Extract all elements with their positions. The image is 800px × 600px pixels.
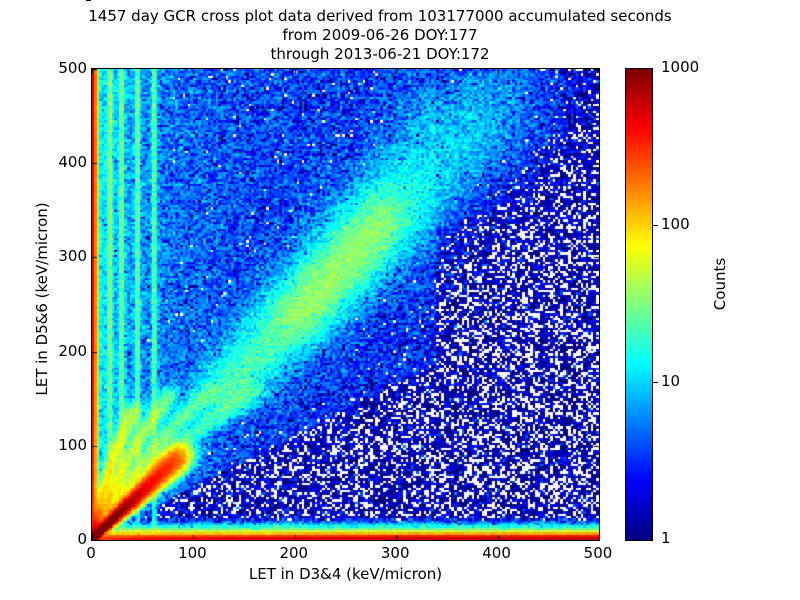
colorbar-ticks: 1101001000: [653, 68, 743, 541]
x-tick-label: 0: [61, 546, 121, 561]
x-tick-label: 300: [365, 546, 425, 561]
y-tick-label: 200: [49, 344, 87, 359]
colorbar-tick-label: 10: [661, 374, 680, 389]
title-line-3: through 2013-06-21 DOY:172: [0, 45, 760, 64]
colorbar-label: Counts: [711, 224, 729, 344]
title-line-2: from 2009-06-26 DOY:177: [0, 26, 760, 45]
x-tick-label: 400: [467, 546, 527, 561]
figure: 1457 day GCR cross plot data derived fro…: [0, 0, 800, 600]
colorbar-tick-label: 1: [661, 531, 671, 546]
colorbar-gradient: [626, 69, 652, 540]
figure-title: 1457 day GCR cross plot data derived fro…: [0, 7, 760, 64]
y-tick-label: 300: [49, 249, 87, 264]
colorbar-tick-label: 100: [661, 217, 690, 232]
colorbar-tick-mark: [653, 225, 658, 226]
plot-area: [91, 68, 600, 541]
title-line-1: 1457 day GCR cross plot data derived fro…: [0, 7, 760, 26]
y-tick-label: 400: [49, 155, 87, 170]
y-tick-label: 100: [49, 438, 87, 453]
x-tick-label: 500: [568, 546, 628, 561]
colorbar: [625, 68, 653, 541]
x-tick-label: 200: [264, 546, 324, 561]
x-axis-label: LET in D3&4 (keV/micron): [91, 565, 600, 583]
y-tick-label: 0: [49, 532, 87, 547]
y-axis-label: LET in D5&6 (keV/micron): [33, 179, 51, 419]
y-tick-mark: [86, 0, 91, 1]
colorbar-tick-label: 1000: [661, 60, 699, 75]
scatter-heatmap-canvas: [92, 69, 599, 540]
x-tick-label: 100: [162, 546, 222, 561]
colorbar-tick-mark: [653, 382, 658, 383]
y-tick-label: 500: [49, 61, 87, 76]
